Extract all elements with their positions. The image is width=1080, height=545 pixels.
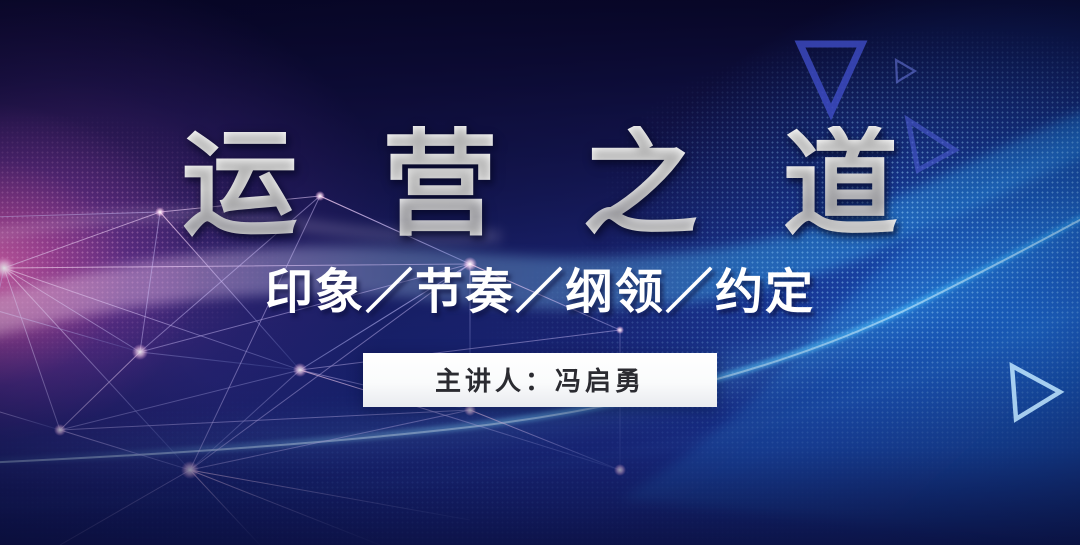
poster-content: 运 营 之 道 印象／节奏／纲领／约定 主讲人：冯启勇 [0, 0, 1080, 545]
poster-banner: 运 营 之 道 印象／节奏／纲领／约定 主讲人：冯启勇 [0, 0, 1080, 545]
speaker-banner: 主讲人：冯启勇 [363, 353, 717, 407]
page-subtitle: 印象／节奏／纲领／约定 [0, 269, 1080, 317]
page-title: 运 营 之 道 [0, 126, 1080, 242]
speaker-banner-wrap: 主讲人：冯启勇 [0, 353, 1080, 407]
